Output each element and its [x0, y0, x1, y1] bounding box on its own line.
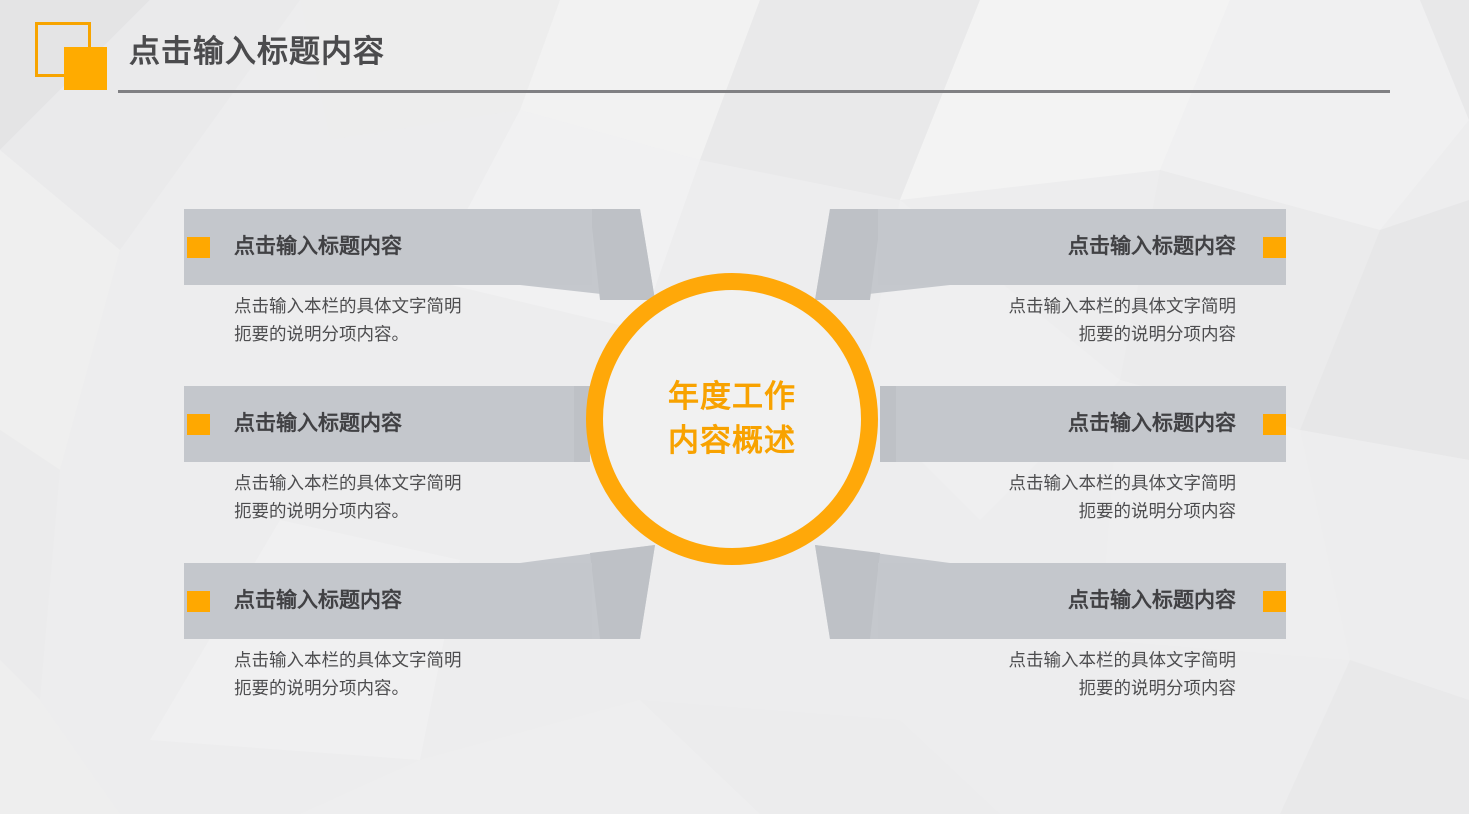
center-line-2: 内容概述 [668, 419, 796, 463]
item-title: 点击输入标题内容 [234, 563, 402, 639]
item-bar-left-1[interactable]: 点击输入标题内容 [184, 209, 592, 285]
bullet-marker-icon [187, 237, 210, 258]
item-title: 点击输入标题内容 [1068, 386, 1236, 462]
bullet-marker-icon [1263, 591, 1286, 612]
item-title: 点击输入标题内容 [234, 386, 402, 462]
slide-canvas: 点击输入标题内容 点击输入标题内容 点击输入本栏的具体文字简明 扼要的说明分项内… [0, 0, 1469, 814]
item-title: 点击输入标题内容 [1068, 563, 1236, 639]
item-bar-left-2[interactable]: 点击输入标题内容 [184, 386, 574, 462]
item-description: 点击输入本栏的具体文字简明 扼要的说明分项内容 [816, 469, 1236, 525]
item-description: 点击输入本栏的具体文字简明 扼要的说明分项内容。 [234, 646, 654, 702]
item-bar-right-3[interactable]: 点击输入标题内容 [878, 563, 1286, 639]
bullet-marker-icon [187, 591, 210, 612]
item-description: 点击输入本栏的具体文字简明 扼要的说明分项内容 [816, 646, 1236, 702]
item-title: 点击输入标题内容 [1068, 209, 1236, 285]
item-bar-left-3[interactable]: 点击输入标题内容 [184, 563, 592, 639]
bullet-marker-icon [187, 414, 210, 435]
bullet-marker-icon [1263, 237, 1286, 258]
item-bar-right-2[interactable]: 点击输入标题内容 [896, 386, 1286, 462]
bullet-marker-icon [1263, 414, 1286, 435]
center-label: 年度工作 内容概述 [586, 273, 878, 565]
item-description: 点击输入本栏的具体文字简明 扼要的说明分项内容 [816, 292, 1236, 348]
item-title: 点击输入标题内容 [234, 209, 402, 285]
center-line-1: 年度工作 [668, 375, 796, 419]
item-bar-right-1[interactable]: 点击输入标题内容 [878, 209, 1286, 285]
